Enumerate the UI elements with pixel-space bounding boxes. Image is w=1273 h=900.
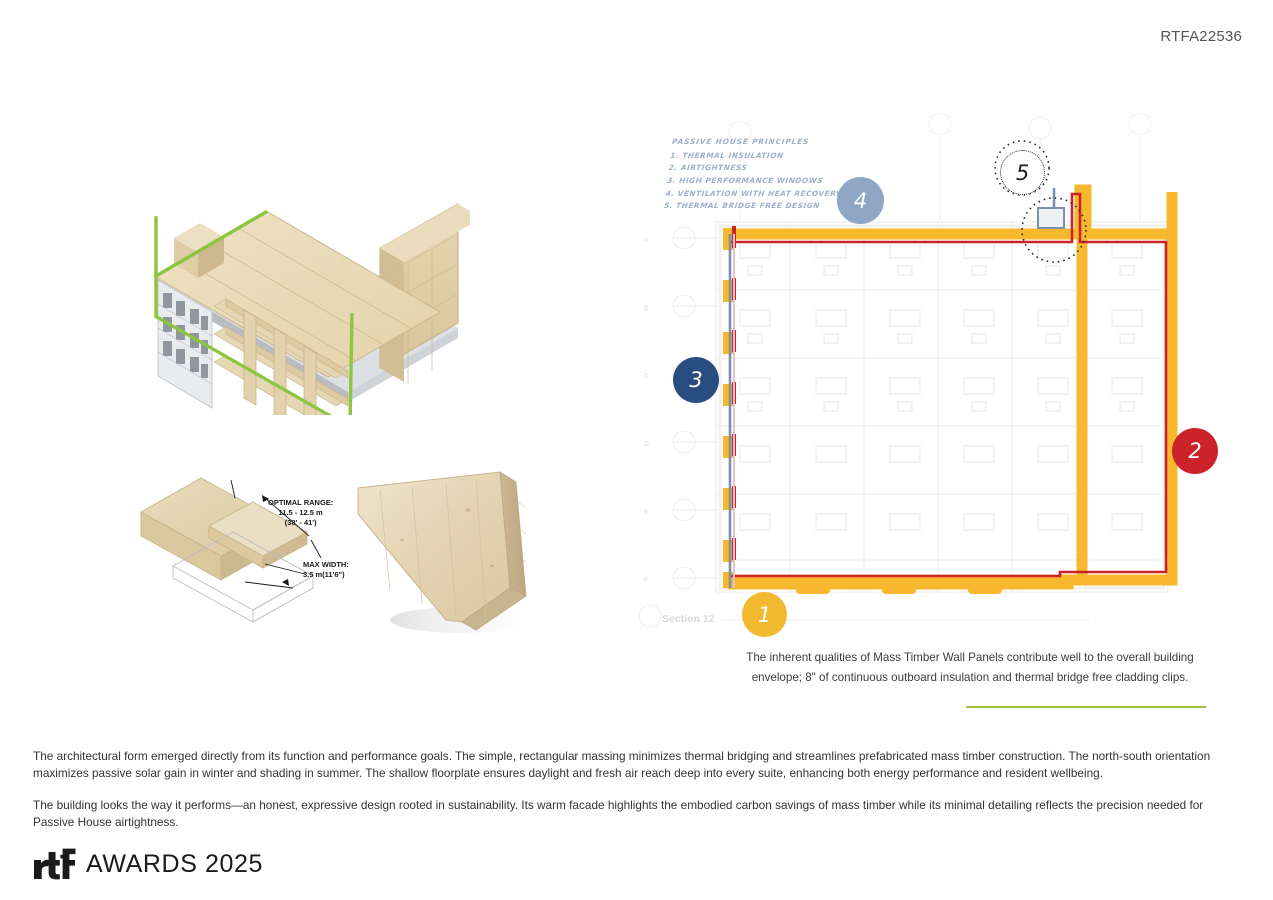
awards-year-text: AWARDS 2025: [86, 850, 263, 879]
notes-item: 3. HIGH PERFORMANCE WINDOWS: [666, 175, 843, 188]
description-paragraph-2: The building looks the way it performs—a…: [33, 797, 1216, 831]
plan-section-label: Section 12: [662, 613, 715, 625]
dim-line: 3.5 m(11'6"): [303, 570, 345, 579]
envelope-structure-line: [730, 188, 1054, 588]
svg-text:E: E: [644, 509, 649, 516]
svg-text:A: A: [644, 237, 649, 244]
dim-line: 11.5 - 12.5 m: [279, 508, 323, 517]
envelope-insulation-band: [728, 190, 1172, 584]
caption-underline-rule: [966, 706, 1206, 708]
notes-item: 5. THERMAL BRIDGE FREE DESIGN: [663, 200, 840, 213]
svg-text:C: C: [644, 373, 649, 380]
plan-marker-4[interactable]: 4: [837, 177, 884, 224]
dim-line: (38' - 41'): [285, 518, 317, 527]
envelope-bottom-bumps: [796, 580, 1002, 594]
dim-line: OPTIMAL RANGE:: [268, 498, 333, 507]
plan-marker-1[interactable]: 1: [742, 592, 787, 637]
panel-optimal-range-label: OPTIMAL RANGE: 11.5 - 12.5 m (38' - 41'): [268, 498, 333, 528]
envelope-insulation-band-main: [728, 190, 1172, 584]
envelope-airtightness-line: [730, 194, 1166, 576]
notes-item: 1. THERMAL INSULATION: [669, 150, 846, 163]
plan-marker-5[interactable]: 5: [1000, 150, 1045, 195]
notes-title: PASSIVE HOUSE PRINCIPLES: [671, 136, 848, 149]
panel-photo-body: [358, 472, 526, 630]
plan-caption: The inherent qualities of Mass Timber Wa…: [720, 648, 1220, 688]
passive-house-envelope-plan: A B C D E F Section 12: [620, 110, 1240, 650]
plan-marker-3[interactable]: 3: [673, 357, 719, 403]
panel-max-width-label: MAX WIDTH: 3.5 m(11'6"): [303, 560, 349, 580]
mass-timber-building-axonometric: [140, 130, 470, 415]
svg-text:F: F: [644, 577, 648, 584]
board-code: RTFA22536: [1160, 28, 1242, 45]
clt-panel-photo: [350, 470, 550, 645]
plan-marker-2[interactable]: 2: [1172, 428, 1218, 474]
svg-text:B: B: [644, 305, 649, 312]
project-description: The architectural form emerged directly …: [33, 748, 1216, 831]
description-paragraph-1: The architectural form emerged directly …: [33, 748, 1216, 782]
passive-house-principles-notes: PASSIVE HOUSE PRINCIPLES 1. THERMAL INSU…: [663, 136, 848, 213]
svg-text:D: D: [644, 441, 649, 448]
footer: AWARDS 2025: [33, 848, 263, 880]
notes-item: 4. VENTILATION WITH HEAT RECOVERY: [665, 188, 842, 201]
dim-line: MAX WIDTH:: [303, 560, 349, 569]
notes-item: 2. AIRTIGHTNESS: [668, 162, 845, 175]
rtf-logo-mark: [33, 848, 77, 880]
